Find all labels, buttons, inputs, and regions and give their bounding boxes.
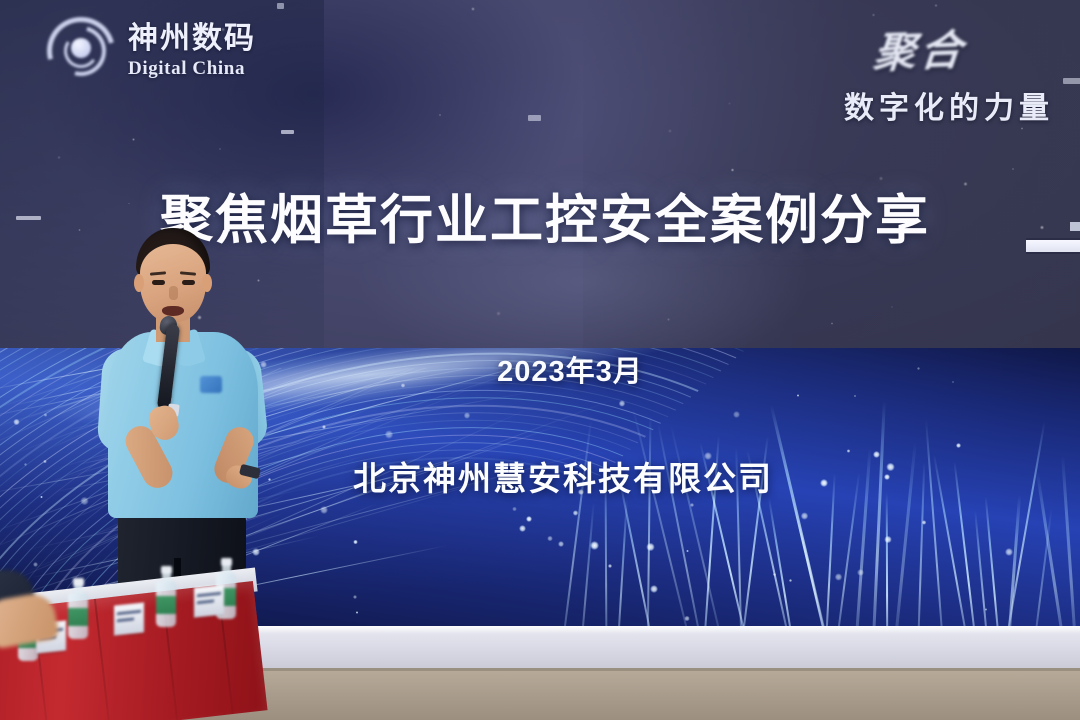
- event-slogan-sub-text: 数字化的力量: [844, 83, 1054, 127]
- event-slogan-block: 聚合 数字化的力量: [844, 18, 1054, 127]
- speaker-mouth: [162, 306, 184, 316]
- place-name-card: [194, 584, 224, 617]
- speaker-shirt-logo-icon: [200, 376, 222, 393]
- brand-name-en: Digital China: [128, 59, 256, 78]
- conference-stage-photo: 神州数码 Digital China 聚合 数字化的力量 聚焦烟草行业工控安全案…: [0, 0, 1080, 720]
- speaker-eye-right: [182, 280, 195, 285]
- brand-name-cn: 神州数码: [128, 24, 256, 54]
- speaker-nose: [169, 286, 178, 300]
- event-slogan-brush-text: 聚合: [871, 16, 969, 80]
- speaker-eye-left: [152, 280, 165, 285]
- place-name-card: [114, 602, 144, 635]
- brand-logo-text: 神州数码 Digital China: [128, 24, 256, 78]
- speaker-ear-left: [134, 274, 144, 292]
- speaker-ear-right: [202, 274, 212, 292]
- swirl-spiral-logo-icon: [44, 14, 118, 88]
- brand-logo-block: 神州数码 Digital China: [44, 14, 256, 88]
